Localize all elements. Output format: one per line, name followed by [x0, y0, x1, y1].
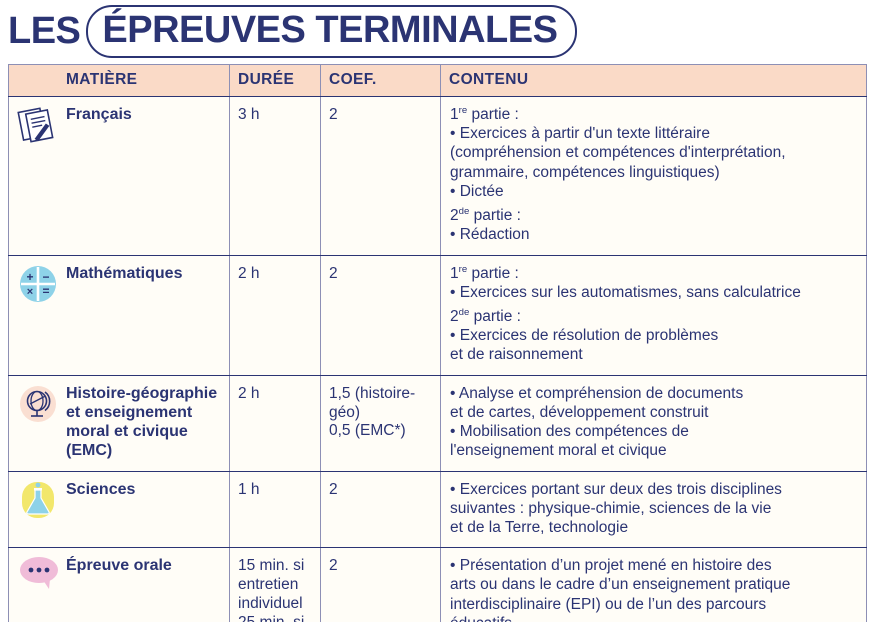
- cell-matiere: Épreuve orale: [9, 548, 230, 622]
- epreuves-terminales-page: LES ÉPREUVES TERMINALES MATIÈRE DURÉE CO…: [0, 0, 872, 622]
- subject-name: Histoire-géographieet enseignementmoral …: [66, 385, 217, 460]
- contenu-heading: 2de partie :: [450, 206, 858, 225]
- svg-text:−: −: [42, 270, 49, 284]
- cell-coef: 2: [321, 471, 441, 548]
- subject-icon: [16, 554, 60, 598]
- table-row: Sciences 1 h 2 • Exercices portant sur d…: [9, 471, 867, 548]
- cell-duree: 2 h: [230, 375, 321, 471]
- flask-icon: [16, 478, 60, 522]
- cell-matiere: Histoire-géographieet enseignementmoral …: [9, 375, 230, 471]
- contenu-group: 2de partie :• Rédaction: [450, 206, 858, 244]
- subject-name: Français: [66, 106, 132, 123]
- subject-icon: [16, 382, 60, 426]
- contenu-line: • Analyse et compréhension de documents: [450, 384, 858, 403]
- coef-value: 2: [321, 97, 440, 135]
- cell-contenu: 1re partie :• Exercices sur les automati…: [441, 255, 867, 375]
- contenu-line: éducatifs: [450, 614, 858, 622]
- svg-text:+: +: [26, 270, 33, 284]
- contenu-line: arts ou dans le cadre d’un enseignement …: [450, 575, 858, 594]
- cell-contenu: • Exercices portant sur deux des trois d…: [441, 471, 867, 548]
- contenu-line: et de la Terre, technologie: [450, 518, 858, 537]
- subject-icon: + − × =: [16, 262, 60, 306]
- table-row: Français 3 h 2 1re partie :• Exercices à…: [9, 97, 867, 256]
- contenu-line: • Mobilisation des compétences de: [450, 422, 858, 441]
- duree-value: 2 h: [230, 376, 320, 414]
- duree-value: 3 h: [230, 97, 320, 135]
- column-header-duree-label: DURÉE: [230, 65, 320, 96]
- cell-coef: 1,5 (histoire-géo)0,5 (EMC*): [321, 375, 441, 471]
- contenu-line: et de raisonnement: [450, 345, 858, 364]
- contenu-line: suivantes : physique-chimie, sciences de…: [450, 499, 858, 518]
- table-body: Français 3 h 2 1re partie :• Exercices à…: [9, 97, 867, 622]
- documents-pen-icon: [16, 103, 60, 147]
- cell-contenu: 1re partie :• Exercices à partir d'un te…: [441, 97, 867, 256]
- contenu-line: • Exercices à partir d'un texte littérai…: [450, 124, 858, 143]
- contenu-line: et de cartes, développement construit: [450, 403, 858, 422]
- svg-text:=: =: [42, 284, 49, 298]
- column-header-coef-label: COEF.: [321, 65, 440, 96]
- subject-icon: [16, 478, 60, 522]
- contenu-group: • Analyse et compréhension de documentse…: [450, 384, 858, 461]
- duree-value: 15 min. sientretienindividuel25 min. sie…: [230, 548, 320, 622]
- contenu-line: • Rédaction: [450, 225, 858, 244]
- page-title-lead: LES: [8, 12, 86, 50]
- cell-duree: 15 min. sientretienindividuel25 min. sie…: [230, 548, 321, 622]
- page-title: LES ÉPREUVES TERMINALES: [8, 6, 577, 56]
- page-title-pill: ÉPREUVES TERMINALES: [86, 5, 577, 58]
- table-header-row: MATIÈRE DURÉE COEF. CONTENU: [9, 65, 867, 97]
- column-header-matiere: MATIÈRE: [9, 65, 230, 97]
- speech-bubble-icon: [16, 554, 64, 594]
- subject-name: Épreuve orale: [66, 557, 172, 574]
- cell-contenu: • Analyse et compréhension de documentse…: [441, 375, 867, 471]
- duree-value: 1 h: [230, 472, 320, 510]
- coef-value: 2: [321, 548, 440, 586]
- contenu-group: • Présentation d’un projet mené en histo…: [450, 556, 858, 622]
- table-row: + − × = Mathématiques 2 h 2 1re partie :…: [9, 255, 867, 375]
- contenu-line: • Exercices portant sur deux des trois d…: [450, 480, 858, 499]
- column-header-contenu: CONTENU: [441, 65, 867, 97]
- contenu-group: 2de partie :• Exercices de résolution de…: [450, 307, 858, 365]
- coef-value: 2: [321, 256, 440, 294]
- epreuves-table: MATIÈRE DURÉE COEF. CONTENU: [8, 64, 867, 622]
- contenu-line: • Dictée: [450, 182, 858, 201]
- contenu-line: grammaire, compétences linguistiques): [450, 163, 858, 182]
- cell-contenu: • Présentation d’un projet mené en histo…: [441, 548, 867, 622]
- contenu-group: 1re partie :• Exercices à partir d'un te…: [450, 105, 858, 201]
- subject-icon: [16, 103, 60, 147]
- contenu-value: • Analyse et compréhension de documentse…: [441, 376, 866, 471]
- contenu-heading: 1re partie :: [450, 105, 858, 124]
- contenu-line: • Exercices sur les automatismes, sans c…: [450, 283, 858, 302]
- contenu-line: • Présentation d’un projet mené en histo…: [450, 556, 858, 575]
- cell-matiere: + − × = Mathématiques: [9, 255, 230, 375]
- cell-coef: 2: [321, 548, 441, 622]
- column-header-contenu-label: CONTENU: [441, 65, 866, 96]
- table-row: Histoire-géographieet enseignementmoral …: [9, 375, 867, 471]
- contenu-heading: 2de partie :: [450, 307, 858, 326]
- math-operations-icon: + − × =: [16, 262, 60, 306]
- cell-duree: 3 h: [230, 97, 321, 256]
- table-row: Épreuve orale 15 min. sientretienindivid…: [9, 548, 867, 622]
- cell-duree: 2 h: [230, 255, 321, 375]
- contenu-line: interdisciplinaire (EPI) ou de l’un des …: [450, 595, 858, 614]
- contenu-value: 1re partie :• Exercices sur les automati…: [441, 256, 866, 375]
- cell-matiere: Français: [9, 97, 230, 256]
- contenu-line: • Exercices de résolution de problèmes: [450, 326, 858, 345]
- column-header-coef: COEF.: [321, 65, 441, 97]
- contenu-line: (compréhension et compétences d'interpré…: [450, 143, 858, 162]
- contenu-value: • Exercices portant sur deux des trois d…: [441, 472, 866, 548]
- contenu-group: 1re partie :• Exercices sur les automati…: [450, 264, 858, 302]
- cell-duree: 1 h: [230, 471, 321, 548]
- cell-matiere: Sciences: [9, 471, 230, 548]
- contenu-heading: 1re partie :: [450, 264, 858, 283]
- coef-value: 2: [321, 472, 440, 510]
- cell-coef: 2: [321, 255, 441, 375]
- subject-name: Sciences: [66, 481, 135, 498]
- svg-text:×: ×: [27, 286, 33, 298]
- column-header-duree: DURÉE: [230, 65, 321, 97]
- contenu-value: 1re partie :• Exercices à partir d'un te…: [441, 97, 866, 255]
- cell-coef: 2: [321, 97, 441, 256]
- column-header-matiere-label: MATIÈRE: [9, 65, 229, 96]
- contenu-line: l'enseignement moral et civique: [450, 441, 858, 460]
- globe-icon: [16, 382, 60, 426]
- contenu-group: • Exercices portant sur deux des trois d…: [450, 480, 858, 538]
- subject-name: Mathématiques: [66, 265, 182, 282]
- contenu-value: • Présentation d’un projet mené en histo…: [441, 548, 866, 622]
- coef-value: 1,5 (histoire-géo)0,5 (EMC*): [321, 376, 440, 452]
- duree-value: 2 h: [230, 256, 320, 294]
